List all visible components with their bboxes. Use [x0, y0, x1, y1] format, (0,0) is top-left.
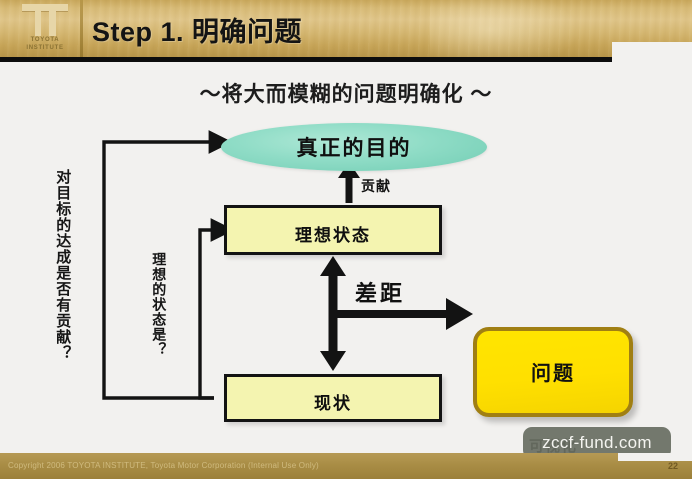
slide-footer: Copyright 2006 TOYOTA INSTITUTE, Toyota … [0, 453, 692, 479]
current-state-box: 现状 [224, 374, 442, 422]
logo-wordmark: TOYOTA INSTITUTE [14, 36, 76, 52]
gap-arrowhead-up-icon [320, 256, 346, 276]
watermark-text: zccf-fund.com [542, 433, 652, 453]
vertical-annotation-goal: 对目标的达成是否有贡献？ [55, 169, 70, 361]
ideal-state-box: 理想状态 [224, 205, 442, 255]
current-state-label: 现状 [227, 389, 439, 414]
problem-label: 问题 [473, 357, 633, 386]
page-number: 22 [668, 461, 678, 471]
copyright-text: Copyright 2006 TOYOTA INSTITUTE, Toyota … [8, 461, 319, 470]
problem-arrowhead-icon [446, 298, 473, 330]
vertical-annotation-ideal: 理想的状态是？ [152, 252, 166, 357]
toyota-institute-logo: TOYOTA INSTITUTE [14, 2, 76, 54]
slide-root: TOYOTA INSTITUTE Step 1. 明确问题 〜将大而模糊的问题明… [0, 0, 692, 479]
header-sheen [430, 0, 580, 57]
gap-label: 差距 [355, 276, 405, 308]
logo-wordmark-line2: INSTITUTE [14, 44, 76, 52]
logo-t-mark-icon [22, 4, 68, 36]
footer-notch [618, 453, 692, 461]
header-notch [612, 42, 692, 57]
ideal-state-label: 理想状态 [227, 221, 439, 246]
logo-bar [22, 4, 68, 11]
logo-wordmark-line1: TOYOTA [14, 36, 76, 44]
logo-stem-left [35, 10, 41, 36]
logo-divider [80, 0, 83, 57]
slide-body: 〜将大而模糊的问题明确化 〜 真正的目的 [0, 62, 692, 453]
connector-ideal-loop [200, 230, 214, 398]
contribution-label: 贡献 [361, 176, 391, 196]
page-title: Step 1. 明确问题 [92, 10, 302, 49]
true-purpose-label: 真正的目的 [221, 132, 487, 162]
gap-arrowhead-down-icon [320, 351, 346, 371]
logo-stem-right [49, 10, 56, 36]
slide-header: TOYOTA INSTITUTE Step 1. 明确问题 [0, 0, 692, 57]
